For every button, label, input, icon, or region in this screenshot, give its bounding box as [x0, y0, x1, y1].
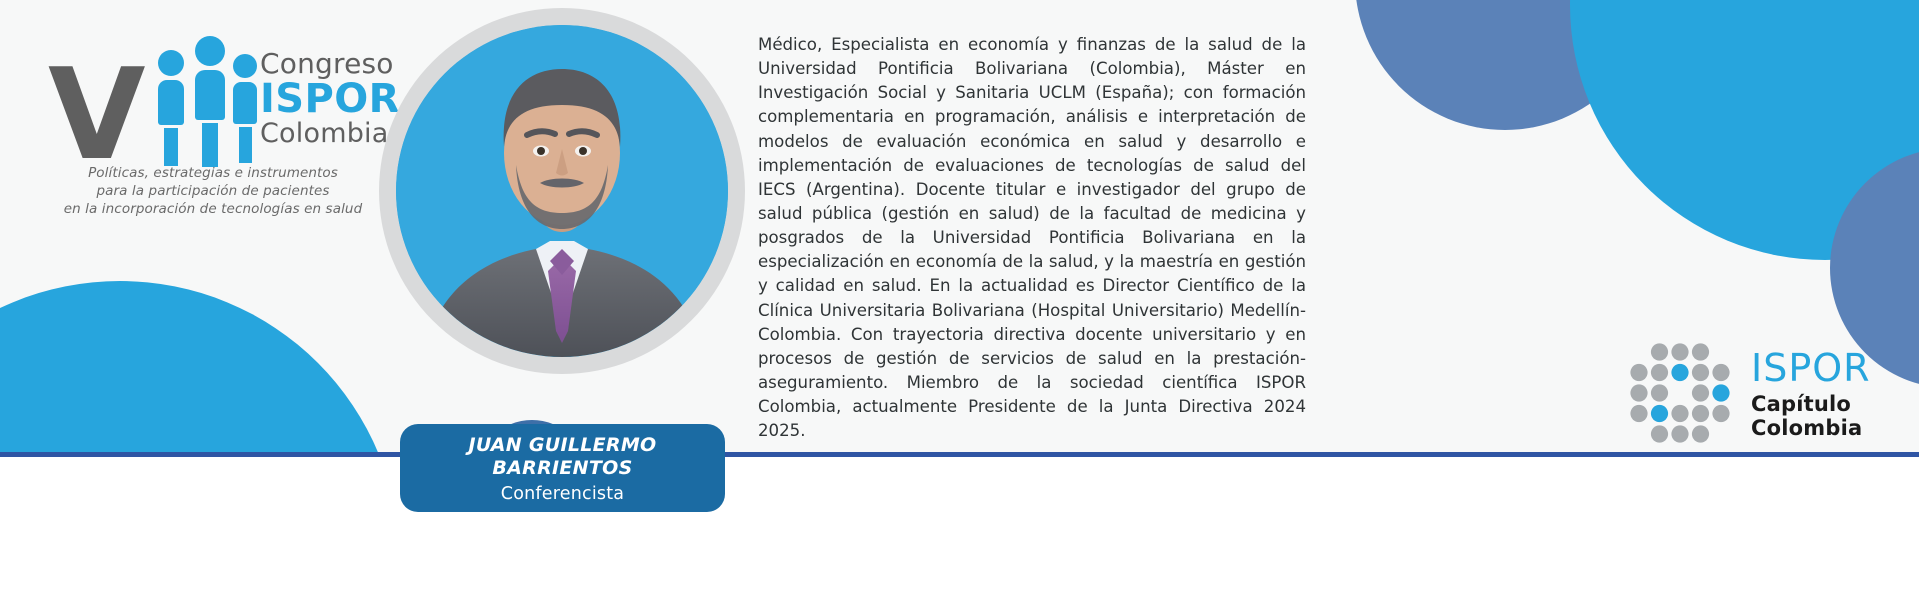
speaker-name-line-2: BARRIENTOS — [468, 457, 656, 479]
tagline-line-3: en la incorporación de tecnologías en sa… — [48, 200, 378, 218]
portrait-photo — [396, 25, 728, 357]
congress-logo: V Congreso ISPOR Colombia — [48, 28, 378, 218]
speaker-name-badge: JUAN GUILLERMO BARRIENTOS Conferencista — [400, 424, 725, 512]
divider-rule — [0, 452, 1919, 457]
chapter-word-capitulo: Capítulo — [1751, 394, 1871, 415]
ispor-dot-grid-icon — [1627, 342, 1737, 446]
speaker-role: Conferencista — [501, 484, 624, 504]
chapter-word-ispor: ISPOR — [1751, 349, 1871, 387]
speaker-portrait — [379, 8, 745, 374]
ispor-chapter-logo: ISPOR Capítulo Colombia — [1627, 340, 1877, 448]
speaker-name: JUAN GUILLERMO BARRIENTOS — [468, 434, 656, 478]
person-icon-1 — [158, 50, 184, 166]
speaker-bio-text: Médico, Especialista en economía y finan… — [758, 33, 1306, 443]
roman-numeral-v: V — [48, 52, 142, 178]
congress-logo-mark: V Congreso ISPOR Colombia — [48, 28, 378, 146]
person-icon-3 — [233, 54, 257, 163]
ispor-chapter-wordmark: ISPOR Capítulo Colombia — [1751, 349, 1871, 439]
speaker-name-line-1: JUAN GUILLERMO — [468, 434, 656, 456]
banner-canvas: V Congreso ISPOR Colombia — [0, 0, 1919, 600]
person-icon-2 — [195, 36, 225, 167]
chapter-word-colombia: Colombia — [1751, 418, 1871, 439]
bottom-white-strip — [0, 457, 1919, 600]
